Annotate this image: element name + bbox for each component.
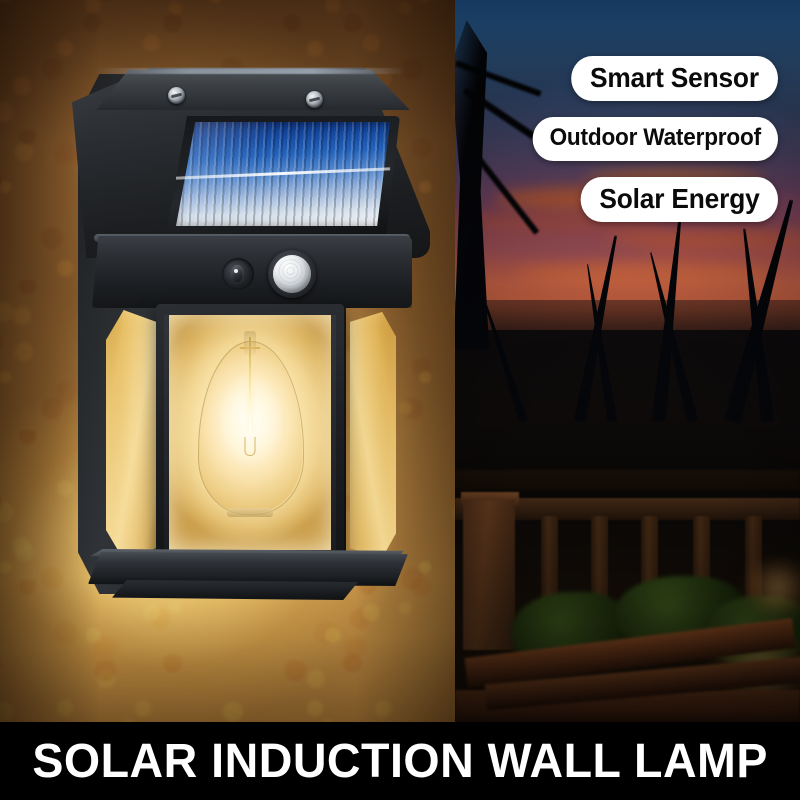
cloud-band xyxy=(605,230,800,248)
mounting-screw-icon xyxy=(168,87,185,104)
filament-stem xyxy=(249,337,251,429)
lantern-mullion-left xyxy=(164,315,169,550)
motion-sensor-ring xyxy=(268,250,316,298)
bottom-title-banner: SOLAR INDUCTION WALL LAMP xyxy=(0,722,800,800)
lantern-front-glass xyxy=(168,315,332,550)
bulb-base xyxy=(227,508,273,517)
motion-sensor-dome-icon xyxy=(273,255,311,293)
product-ad-image: Smart Sensor Outdoor Waterproof Solar En… xyxy=(0,0,800,800)
feature-badge-outdoor-waterproof[interactable]: Outdoor Waterproof xyxy=(533,117,778,160)
product-title: SOLAR INDUCTION WALL LAMP xyxy=(32,734,767,789)
lantern-side-glass-left xyxy=(106,310,158,560)
bulb-outline xyxy=(198,341,304,515)
edison-bulb-icon xyxy=(198,331,302,517)
fresnel-lens-rings xyxy=(277,259,307,289)
feature-badge-solar-energy[interactable]: Solar Energy xyxy=(580,177,778,222)
left-photo-lamp-on-wall xyxy=(0,0,455,722)
lamp-roof-top-face xyxy=(90,70,410,110)
lamp-roof-highlight xyxy=(94,68,406,74)
solar-wall-lamp xyxy=(72,68,432,613)
screw-slot xyxy=(309,97,320,103)
lamp-base-foot xyxy=(112,580,358,600)
screw-slot xyxy=(171,93,182,99)
deck-rail-upper xyxy=(455,470,800,490)
lantern-mullion-right xyxy=(331,315,336,550)
filament-tip xyxy=(245,437,256,456)
lantern-side-glass-right xyxy=(350,312,396,558)
feature-badge-smart-sensor[interactable]: Smart Sensor xyxy=(572,56,778,101)
mounting-screw-icon xyxy=(306,91,323,108)
light-sensor-highlight xyxy=(234,269,238,273)
cloud-band xyxy=(475,244,655,260)
light-sensor-lens xyxy=(231,265,244,284)
cloud-band xyxy=(515,262,775,284)
light-sensor-icon xyxy=(222,258,254,290)
lantern-glass-box xyxy=(100,304,400,572)
feature-badge-list: Smart Sensor Outdoor Waterproof Solar En… xyxy=(517,56,778,222)
lantern-front-frame xyxy=(156,304,344,566)
deck-post xyxy=(463,500,515,650)
